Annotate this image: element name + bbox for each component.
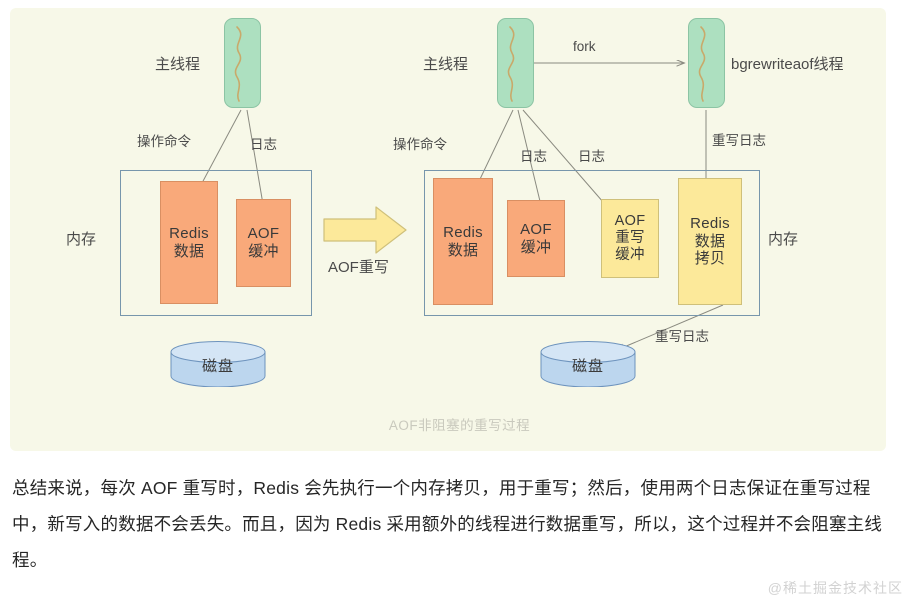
block-line: Redis [690,215,730,233]
block-line: 拷贝 [695,250,726,268]
left-memory-label: 内存 [66,228,96,249]
block-line: 数据 [174,243,205,261]
fork-label: fork [573,39,596,54]
block-line: Redis [443,224,483,242]
right-block-redis-data-copy: Redis 数据 拷贝 [678,178,742,305]
bgrewriteaof-thread-label: bgrewriteaof线程 [731,53,844,74]
block-line: AOF [520,221,552,239]
left-main-thread-box [224,18,261,108]
left-block-aof-buffer: AOF 缓冲 [236,199,291,287]
left-command-edge-label: 操作命令 [137,130,191,150]
block-line: 数据 [448,242,479,260]
right-block-aof-rewrite-buffer: AOF 重写 缓冲 [601,199,659,278]
right-disk: 磁盘 [540,341,636,387]
block-line: AOF [248,225,280,243]
right-disk-label: 磁盘 [540,355,636,376]
right-command-edge-label: 操作命令 [393,133,447,153]
left-main-thread-label: 主线程 [155,53,200,74]
right-log-edge-label-2: 日志 [578,145,605,165]
aof-rewrite-arrow [322,205,408,255]
right-main-thread-label: 主线程 [423,53,468,74]
right-main-thread-box [497,18,534,108]
bgrewriteaof-thread-box [688,18,725,108]
thread-squiggle-icon [689,19,726,109]
right-rewrite-log-label-top: 重写日志 [712,129,766,149]
aof-rewrite-arrow-label: AOF重写 [328,256,389,277]
right-rewrite-log-label-disk: 重写日志 [655,325,709,345]
thread-squiggle-icon [498,19,535,109]
page-root: 主线程 操作命令 日志 内存 Redis 数据 AOF 缓冲 磁盘 AOF重写 … [0,0,919,606]
block-line: 数据 [695,233,726,251]
block-line: 缓冲 [615,247,645,264]
block-line: 重写 [615,230,645,247]
site-watermark: @稀土掘金技术社区 [768,578,903,598]
right-log-edge-label-1: 日志 [520,145,547,165]
left-disk-label: 磁盘 [170,355,266,376]
left-log-edge-label: 日志 [250,133,277,153]
figure-caption: AOF非阻塞的重写过程 [0,414,919,434]
block-line: Redis [169,225,209,243]
block-line: 缓冲 [248,243,279,261]
right-block-aof-buffer: AOF 缓冲 [507,200,565,277]
left-disk: 磁盘 [170,341,266,387]
right-memory-label: 内存 [768,228,798,249]
block-line: AOF [615,213,646,230]
article-paragraph: 总结来说，每次 AOF 重写时，Redis 会先执行一个内存拷贝，用于重写；然后… [12,470,892,578]
thread-squiggle-icon [225,19,262,109]
block-line: 缓冲 [521,239,552,257]
left-block-redis-data: Redis 数据 [160,181,218,304]
right-arrow-icon [322,205,408,255]
right-block-redis-data: Redis 数据 [433,178,493,305]
